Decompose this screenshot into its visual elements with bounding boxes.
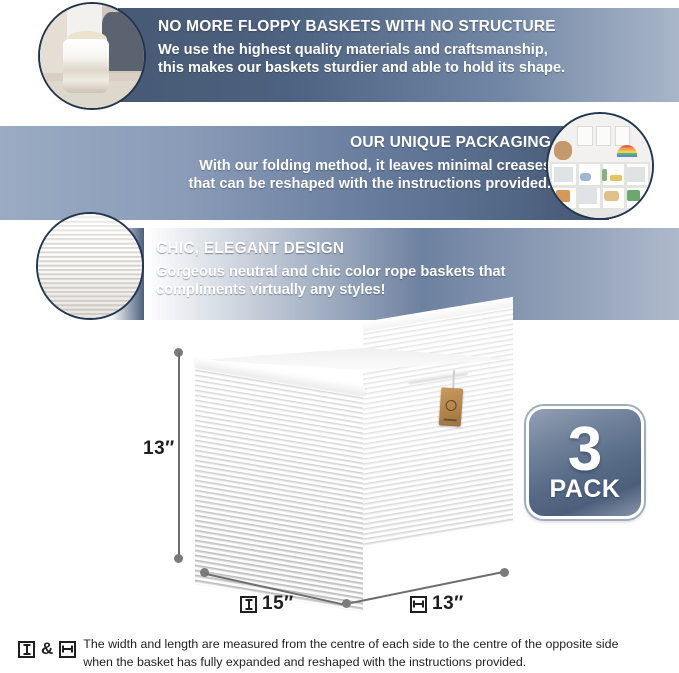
shelf-bin-bottom-2 <box>578 188 597 204</box>
feature-heading-design: CHIC, ELEGANT DESIGN <box>156 240 665 258</box>
footnote-text: The width and length are measured from t… <box>83 636 618 671</box>
feature-heading-structure: NO MORE FLOPPY BASKETS WITH NO STRUCTURE <box>158 18 665 36</box>
feature-body-structure-line2: this makes our baskets sturdier and able… <box>158 59 665 78</box>
depth-dimension-label: 13″ <box>410 593 464 615</box>
feature-banner-packaging: OUR UNIQUE PACKAGING With our folding me… <box>0 126 609 220</box>
footnote-icon-group: & <box>18 636 76 659</box>
bottom-center-dot <box>342 599 351 608</box>
measurement-footnote: & The width and length are measured from… <box>18 636 668 671</box>
horizontal-arrow-icon <box>59 641 76 658</box>
feature-body-design: Gorgeous neutral and chic color rope bas… <box>156 263 665 300</box>
width-dimension-label: 15″ <box>240 593 294 615</box>
toy-car-yellow <box>610 175 622 181</box>
feature-body-packaging-line1: With our folding method, it leaves minim… <box>14 157 551 176</box>
feature-banner-design: CHIC, ELEGANT DESIGN Gorgeous neutral an… <box>110 228 679 320</box>
footnote-line1: The width and length are measured from t… <box>83 636 618 654</box>
depth-dot-right <box>500 568 509 577</box>
toy-block-green <box>627 190 640 201</box>
toy-figure-blue <box>580 173 591 181</box>
toy-book-green <box>602 169 607 181</box>
ampersand-text: & <box>41 639 53 659</box>
height-dot-bottom <box>174 554 183 563</box>
toy-basket-tan <box>604 191 619 201</box>
feature-heading-packaging: OUR UNIQUE PACKAGING <box>14 134 551 152</box>
shelf-bin-top-right <box>626 167 645 182</box>
basket-right-face <box>363 301 513 548</box>
basket-in-living-room-photo <box>38 2 146 110</box>
rope-texture-shading <box>38 214 142 318</box>
three-pack-badge: 3 PACK <box>526 406 644 519</box>
toy-block-orange <box>556 190 570 201</box>
feature-body-structure: We use the highest quality materials and… <box>158 41 665 78</box>
footnote-line2: when the basket has fully expanded and r… <box>83 654 618 672</box>
feature-body-packaging: With our folding method, it leaves minim… <box>14 157 551 194</box>
vertical-arrow-icon <box>18 641 35 658</box>
rope-basket-shape <box>63 39 109 93</box>
height-guide-line <box>178 352 180 558</box>
pack-label: PACK <box>550 477 621 502</box>
height-dimension-label: 13″ <box>143 438 175 460</box>
pack-count: 3 <box>568 423 602 476</box>
teddy-bear-shape <box>554 141 572 160</box>
shelf-bin-top-left <box>554 167 573 182</box>
nursery-shelf-photo <box>546 112 654 220</box>
wall-frame-3 <box>615 126 631 146</box>
wall-frame-1 <box>577 126 593 146</box>
feature-body-structure-line1: We use the highest quality materials and… <box>158 41 665 60</box>
cube-shelf-unit <box>550 162 650 210</box>
feature-body-design-line1: Gorgeous neutral and chic color rope bas… <box>156 263 665 282</box>
feature-banner-structure: NO MORE FLOPPY BASKETS WITH NO STRUCTURE… <box>118 8 679 102</box>
feature-body-packaging-line2: that can be reshaped with the instructio… <box>14 175 551 194</box>
basket-left-face <box>195 362 363 612</box>
horizontal-arrow-icon <box>410 596 427 613</box>
wall-frame-2 <box>596 126 612 146</box>
height-dimension-value: 13″ <box>143 438 175 460</box>
vertical-arrow-icon <box>240 596 257 613</box>
rope-texture-closeup-photo <box>36 212 144 320</box>
width-dimension-value: 15″ <box>262 593 294 615</box>
leather-logo-tag <box>439 387 464 426</box>
nursery-floor <box>548 209 652 218</box>
sofa-shape <box>102 12 144 70</box>
depth-dimension-value: 13″ <box>432 593 464 615</box>
feature-body-design-line2: compliments virtually any styles! <box>156 281 665 300</box>
